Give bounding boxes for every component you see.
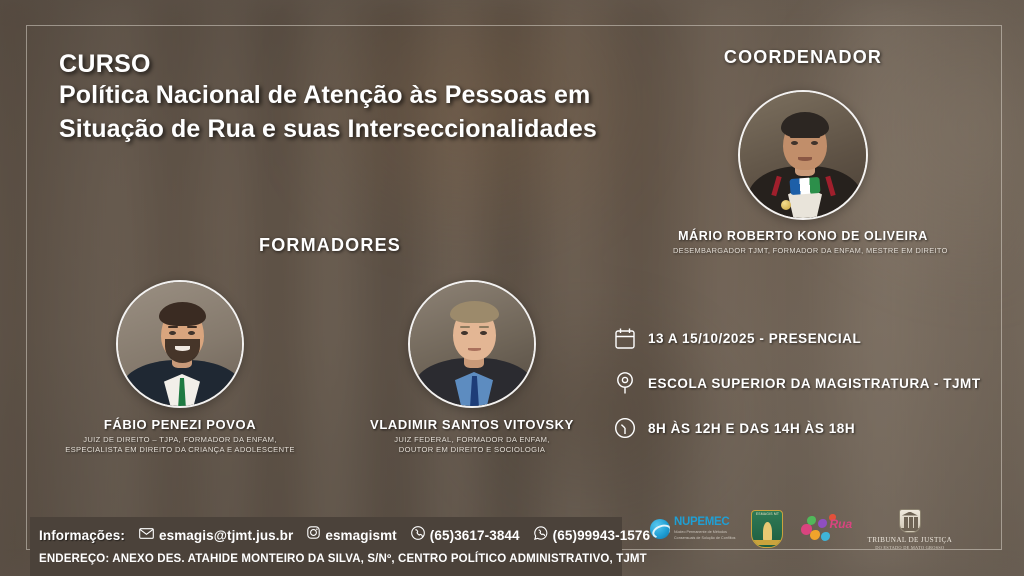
trainers-section-label: FORMADORES [190, 235, 470, 256]
tjmt-subtitle: DO ESTADO DE MATO GROSSO [875, 545, 944, 550]
esmagis-mt-logo: ESMAGIS MT [751, 509, 783, 549]
coordinator-name: MÁRIO ROBERTO KONO DE OLIVEIRA [673, 229, 933, 243]
nupemec-subtitle-line-1: Núcleo Permanente de Métodos [674, 530, 735, 535]
trainer-role-line-2: DOUTOR EM DIREITO E SOCIOLOGIA [352, 445, 592, 455]
trainer-avatar [408, 280, 536, 408]
tjmt-logo: TRIBUNAL DE JUSTIÇA DO ESTADO DE MATO GR… [867, 509, 952, 549]
rua-mt-wordmark: Rua [829, 518, 852, 530]
contact-address: ENDEREÇO: ANEXO DES. ATAHIDE MONTEIRO DA… [39, 553, 622, 565]
tjmt-title: TRIBUNAL DE JUSTIÇA [867, 536, 952, 544]
esmagis-seal-wordmark: ESMAGIS MT [752, 512, 782, 516]
coordinator-role: DESEMBARGADOR TJMT, FORMADOR DA ENFAM, M… [673, 246, 933, 255]
course-title-line-2: Situação de Rua e suas Interseccionalida… [59, 113, 659, 146]
calendar-icon [614, 327, 648, 350]
coordinator-avatar [738, 90, 868, 220]
event-details: 13 A 15/10/2025 - PRESENCIAL ESCOLA SUPE… [614, 325, 1014, 460]
detail-date-text: 13 A 15/10/2025 - PRESENCIAL [648, 331, 861, 346]
whatsapp-icon [534, 526, 548, 545]
contact-whatsapp-text: (65)99943-1576 [553, 528, 650, 543]
trainer-name: FÁBIO PENEZI POVOA [60, 417, 300, 432]
coordinator-photo [740, 92, 866, 218]
trainer-photo [118, 282, 242, 406]
coordinator-section-label: COORDENADOR [663, 47, 943, 68]
trainer-avatar [116, 280, 244, 408]
event-poster: CURSO Política Nacional de Atenção às Pe… [0, 0, 1024, 576]
course-kicker: CURSO [59, 50, 659, 78]
clock-icon [614, 417, 648, 439]
phone-icon [411, 526, 425, 545]
envelope-icon [139, 526, 154, 544]
detail-time-text: 8H ÀS 12H E DAS 14H ÀS 18H [648, 421, 855, 436]
detail-row-time: 8H ÀS 12H E DAS 14H ÀS 18H [614, 415, 1014, 441]
contact-email[interactable]: esmagis@tjmt.jus.br [139, 526, 293, 544]
rua-mt-logo: Rua [799, 509, 851, 549]
contact-label: Informações: [39, 528, 125, 543]
logo-strip: NUPEMEC Núcleo Permanente de Métodos Con… [650, 506, 1012, 552]
nupemec-subtitle-line-2: Consensuais de Solução de Conflitos [674, 536, 735, 541]
contact-whatsapp[interactable]: (65)99943-1576 [534, 526, 650, 545]
coordinator-card: MÁRIO ROBERTO KONO DE OLIVEIRA DESEMBARG… [673, 90, 933, 255]
instagram-icon [307, 526, 320, 544]
contact-line-primary: Informações: esmagis@tjmt.jus.br [39, 524, 622, 546]
course-title-line-1: Política Nacional de Atenção às Pessoas … [59, 79, 659, 112]
contact-phone-text: (65)3617-3844 [430, 528, 520, 543]
contact-bar: Informações: esmagis@tjmt.jus.br [30, 517, 622, 576]
contact-email-text: esmagis@tjmt.jus.br [159, 528, 293, 543]
esmagis-seal-icon: ESMAGIS MT [751, 510, 783, 548]
trainer-role-line-1: JUIZ DE DIREITO – TJPA, FORMADOR DA ENFA… [60, 435, 300, 445]
contact-phone[interactable]: (65)3617-3844 [411, 526, 520, 545]
location-pin-icon [614, 371, 648, 395]
contact-instagram[interactable]: esmagismt [307, 526, 396, 544]
detail-row-location: ESCOLA SUPERIOR DA MAGISTRATURA - TJMT [614, 370, 1014, 396]
headline-block: CURSO Política Nacional de Atenção às Pe… [59, 50, 659, 146]
trainer-card: VLADIMIR SANTOS VITOVSKY JUIZ FEDERAL, F… [352, 280, 592, 454]
detail-row-date: 13 A 15/10/2025 - PRESENCIAL [614, 325, 1014, 351]
detail-location-text: ESCOLA SUPERIOR DA MAGISTRATURA - TJMT [648, 376, 981, 391]
nupemec-logo: NUPEMEC Núcleo Permanente de Métodos Con… [650, 509, 735, 549]
trainer-role-line-2: ESPECIALISTA EM DIREITO DA CRIANÇA E ADO… [60, 445, 300, 455]
trainer-card: FÁBIO PENEZI POVOA JUIZ DE DIREITO – TJP… [60, 280, 300, 454]
rua-mt-icon: Rua [799, 512, 851, 546]
tjmt-crest-icon [899, 509, 921, 533]
trainer-name: VLADIMIR SANTOS VITOVSKY [352, 417, 592, 432]
trainer-role-line-1: JUIZ FEDERAL, FORMADOR DA ENFAM, [352, 435, 592, 445]
nupemec-globe-icon [650, 519, 670, 539]
nupemec-wordmark: NUPEMEC [674, 517, 735, 529]
contact-instagram-text: esmagismt [325, 528, 396, 543]
trainer-photo [410, 282, 534, 406]
